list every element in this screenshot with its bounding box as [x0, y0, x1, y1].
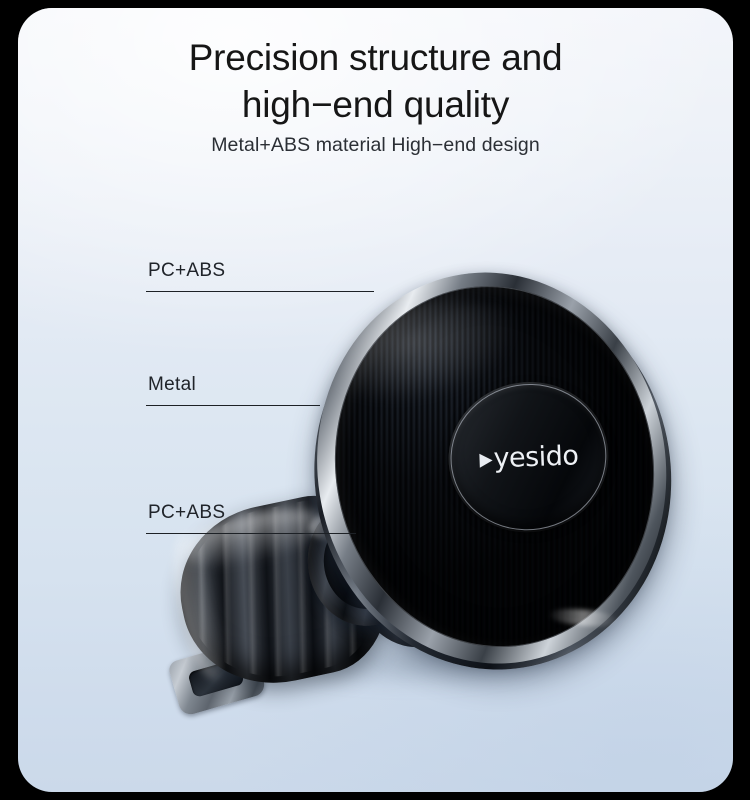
callout-pc-abs-top: PC+ABS: [146, 260, 374, 292]
brand-logo: yesido: [479, 442, 579, 472]
brand-name: yesido: [493, 442, 579, 472]
callout-leader-line: [146, 533, 356, 534]
product-feature-card: Precision structure and high−end quality…: [18, 8, 733, 792]
magnetic-disc: yesido: [285, 245, 699, 696]
callout-leader-line: [146, 405, 320, 406]
callout-leader-line: [146, 291, 374, 292]
screenshot-stage: Precision structure and high−end quality…: [0, 0, 750, 800]
page-title: Precision structure and high−end quality: [18, 34, 733, 128]
callout-label: PC+ABS: [146, 260, 374, 282]
page-subtitle: Metal+ABS material High−end design: [18, 134, 733, 157]
callout-pc-abs-bottom: PC+ABS: [146, 502, 356, 534]
callout-metal: Metal: [146, 374, 320, 406]
callout-label: Metal: [146, 374, 320, 396]
callout-label: PC+ABS: [146, 502, 356, 524]
logo-flag-icon: [479, 452, 492, 466]
